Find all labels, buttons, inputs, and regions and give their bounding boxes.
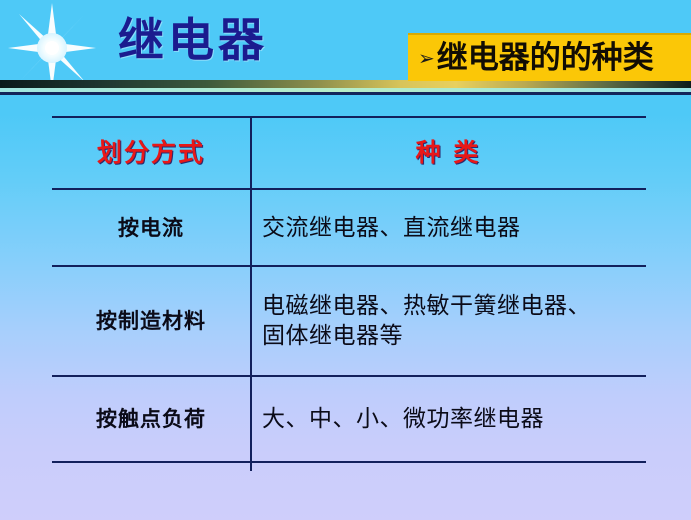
table-cell-kinds-line1: 大、中、小、微功率继电器 [262, 406, 544, 432]
table-cell-kinds-line1: 交流继电器、直流继电器 [262, 215, 521, 241]
section-banner-label: 继电器的的种类 [437, 40, 654, 76]
table-column-divider [250, 116, 252, 471]
page-title: 继电器 [118, 12, 268, 68]
table-cell-kinds: 交流继电器、直流继电器 [250, 189, 646, 266]
table-header-method-label: 划分方式 [52, 138, 250, 168]
table-header-kinds-label: 种 类 [250, 138, 646, 168]
table-cell-kinds-line1: 电磁继电器、热敏干簧继电器、 [262, 293, 591, 319]
table-cell-method: 按触点负荷 [52, 376, 250, 462]
section-banner: ➢ 继电器的的种类 [408, 33, 691, 81]
table-row: 按触点负荷 大、中、小、微功率继电器 [52, 376, 646, 462]
table-cell-method: 按电流 [52, 189, 250, 266]
table-cell-kinds: 大、中、小、微功率继电器 [250, 376, 646, 462]
table-header-cell-kinds: 种 类 [250, 117, 646, 189]
title-divider-shadow [0, 92, 691, 95]
table-cell-kinds-label: 交流继电器、直流继电器 [250, 213, 646, 243]
table-header-row: 划分方式 种 类 [52, 117, 646, 189]
table-cell-kinds-line2: 固体继电器等 [262, 321, 646, 351]
table-cell-kinds: 电磁继电器、热敏干簧继电器、固体继电器等 [250, 266, 646, 376]
table-header-cell-method: 划分方式 [52, 117, 250, 189]
table-cell-kinds-label: 大、中、小、微功率继电器 [250, 404, 646, 434]
table-cell-kinds-label: 电磁继电器、热敏干簧继电器、固体继电器等 [250, 291, 646, 351]
slide-canvas: 继电器 ➢ 继电器的的种类 划分方式 种 类 按电流 交流继电 [0, 0, 691, 520]
arrow-bullet-icon: ➢ [418, 48, 435, 68]
table-cell-method-label: 按电流 [52, 215, 250, 241]
table-cell-method: 按制造材料 [52, 266, 250, 376]
table-cell-method-label: 按触点负荷 [52, 406, 250, 432]
starburst-icon [6, 2, 98, 92]
title-divider-bar [0, 80, 691, 88]
table-cell-method-label: 按制造材料 [52, 308, 250, 334]
relay-classification-table: 划分方式 种 类 按电流 交流继电器、直流继电器 按制造材料 [52, 116, 646, 463]
table-row: 按制造材料 电磁继电器、热敏干簧继电器、固体继电器等 [52, 266, 646, 376]
table-row: 按电流 交流继电器、直流继电器 [52, 189, 646, 266]
